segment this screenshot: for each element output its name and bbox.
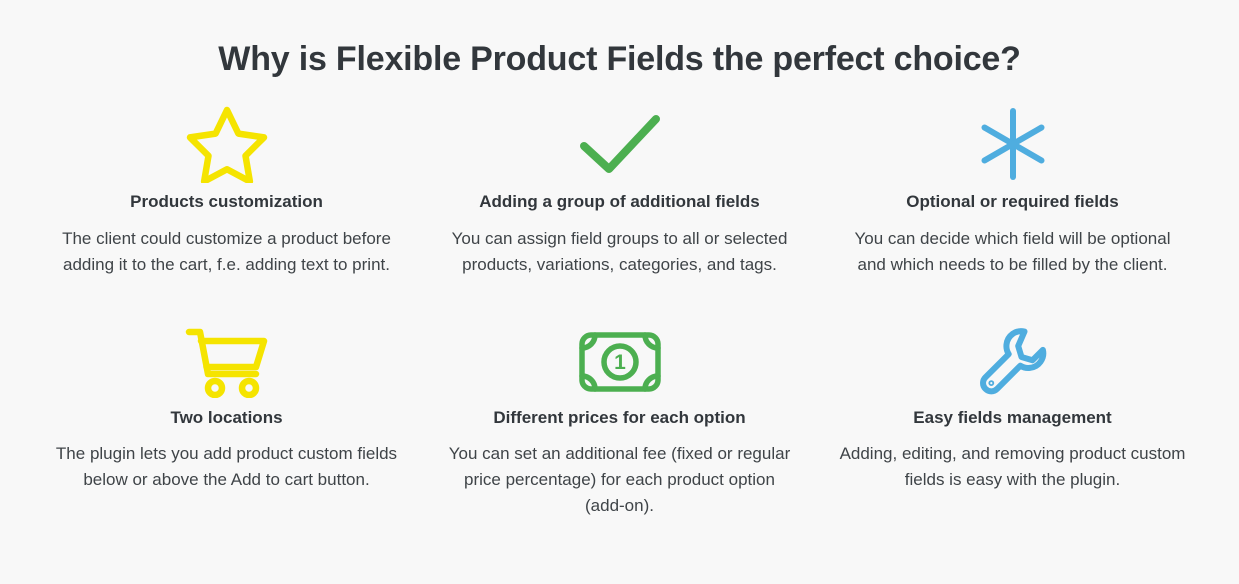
wrench-icon [976, 321, 1050, 403]
checkmark-icon [577, 101, 663, 187]
banknote-value: 1 [614, 351, 626, 374]
features-section: Why is Flexible Product Fields the perfe… [0, 0, 1239, 584]
feature-description: You can assign field groups to all or se… [445, 226, 794, 279]
page-title: Why is Flexible Product Fields the perfe… [0, 0, 1239, 81]
feature-card-optional-required-fields: Optional or required fields You can deci… [816, 101, 1209, 321]
feature-card-different-prices: 1 Different prices for each option You c… [423, 321, 816, 541]
feature-description: The client could customize a product bef… [52, 226, 401, 279]
feature-title: Products customization [130, 191, 323, 213]
feature-title: Optional or required fields [906, 191, 1119, 213]
banknote-icon: 1 [578, 321, 662, 403]
star-icon [186, 101, 268, 187]
feature-card-easy-fields-management: Easy fields management Adding, editing, … [816, 321, 1209, 541]
feature-description: You can decide which field will be optio… [838, 226, 1187, 279]
feature-description: Adding, editing, and removing product cu… [838, 441, 1187, 494]
feature-title: Two locations [170, 407, 282, 429]
asterisk-icon [977, 101, 1049, 187]
feature-card-products-customization: Products customization The client could … [30, 101, 423, 321]
feature-title: Adding a group of additional fields [479, 191, 759, 213]
feature-card-two-locations: Two locations The plugin lets you add pr… [30, 321, 423, 541]
feature-description: The plugin lets you add product custom f… [52, 441, 401, 494]
feature-description: You can set an additional fee (fixed or … [445, 441, 794, 520]
features-grid: Products customization The client could … [30, 81, 1209, 541]
shopping-cart-icon [184, 321, 270, 403]
feature-card-adding-field-group: Adding a group of additional fields You … [423, 101, 816, 321]
feature-title: Different prices for each option [493, 407, 745, 429]
feature-title: Easy fields management [913, 407, 1111, 429]
